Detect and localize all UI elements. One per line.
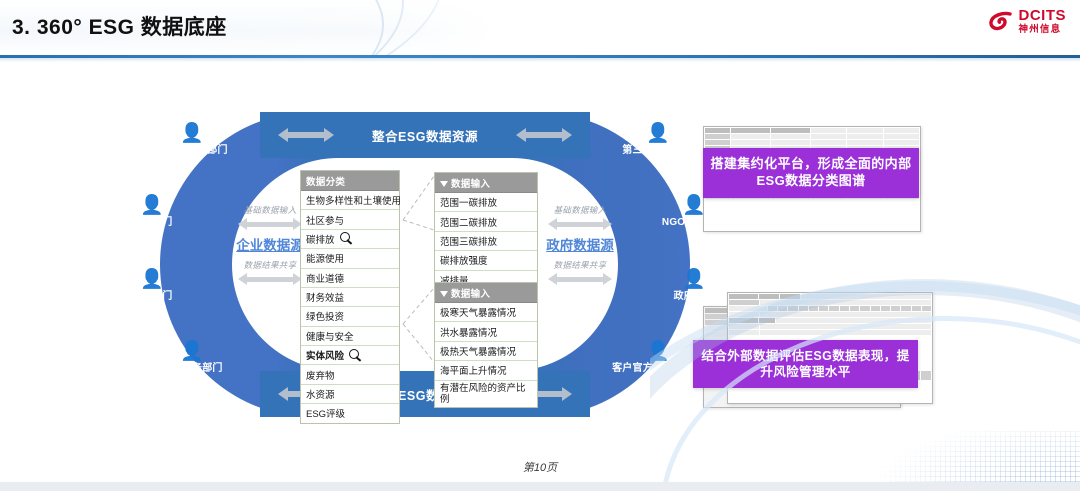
title-divider: [0, 55, 1080, 58]
table-row[interactable]: 绿色投资: [301, 307, 399, 326]
node-label: 可持续发展部门: [144, 145, 240, 157]
cell-text: 水资源: [306, 387, 335, 401]
node-label: 风险部门: [104, 217, 200, 229]
cell-text: 能源使用: [306, 251, 344, 265]
node-public-affairs-dept[interactable]: 👤 公共事务部门: [144, 342, 240, 375]
logo-text-en: DCITS: [1019, 8, 1067, 23]
government-data-source-label[interactable]: 政府数据源: [526, 234, 634, 254]
person-badge-icon: 👤: [144, 342, 240, 361]
table-row[interactable]: 范围二碳排放: [435, 212, 537, 231]
person-icon: 👤: [610, 124, 706, 143]
cell-text: 洪水暴露情况: [440, 325, 497, 339]
table-row[interactable]: 能源使用: [301, 249, 399, 268]
node-label: 客户官方信息披露及估测: [610, 363, 706, 386]
person-badge-icon: 👤: [104, 196, 200, 215]
table-row[interactable]: 碳排放: [301, 230, 399, 249]
table-row[interactable]: 健康与安全: [301, 327, 399, 346]
caption-result-sharing: 数据结果共享: [526, 259, 634, 271]
table-row[interactable]: 社区参与: [301, 210, 399, 229]
cell-text: 生物多样性和土壤使用: [306, 193, 401, 207]
person-badge-icon: 👤: [144, 124, 240, 143]
node-client-disclosure[interactable]: 👤 客户官方信息披露及估测: [610, 342, 706, 386]
callout-card-1: 搭建集约化平台，形成全面的内部ESG数据分类图谱: [703, 126, 919, 230]
cell-text: ESG评级: [306, 406, 345, 420]
cell-text: 海平面上升情况: [440, 363, 507, 377]
cell-text: 碳排放: [306, 232, 335, 246]
table-header-label: 数据输入: [451, 179, 490, 190]
table-data-classification: 数据分类 生物多样性和土壤使用 社区参与 碳排放 能源使用 商业道德 财务效益 …: [300, 170, 400, 424]
cell-text: 范围一碳排放: [440, 195, 497, 209]
table-header: 数据输入: [435, 283, 537, 303]
callout-card-2: 结合外部数据评估ESG数据表现，提升风险管理水平: [703, 292, 931, 414]
table-row[interactable]: 极寒天气暴露情况: [435, 303, 537, 322]
table-header-label: 数据输入: [451, 289, 490, 300]
cell-text: 废弃物: [306, 368, 335, 382]
node-label: 第三方评级机构: [610, 145, 706, 157]
node-third-party-rating[interactable]: 👤 第三方评级机构: [610, 124, 706, 157]
cell-text: 范围二碳排放: [440, 215, 497, 229]
node-sustainability-dept[interactable]: 👤 可持续发展部门: [144, 124, 240, 157]
caption-basic-input: 基础数据输入: [526, 204, 634, 216]
footer-bar: [0, 482, 1080, 491]
logo-text-cn: 神州信息: [1019, 25, 1067, 35]
caret-down-icon: [440, 291, 448, 297]
page-title: 3. 360° ESG 数据底座: [12, 11, 227, 41]
brand-logo: DCITS 神州信息: [988, 8, 1067, 35]
node-risk-dept[interactable]: 👤 风险部门: [104, 196, 200, 229]
cell-text: 有潜在风险的资产比例: [440, 383, 532, 405]
double-arrow-icon: [548, 218, 612, 230]
esg-ring-diagram: 整合ESG数据资源 形成ESG数据生态 👤 可持续发展部门 👤 风险部门 👤 投…: [160, 112, 690, 417]
cell-text: 绿色投资: [306, 309, 344, 323]
person-icon: 👤: [610, 342, 706, 361]
node-label: 公共事务部门: [144, 363, 240, 375]
cell-text: 极热天气暴露情况: [440, 344, 516, 358]
table-row[interactable]: 极热天气暴露情况: [435, 342, 537, 361]
magnifier-icon[interactable]: [340, 232, 353, 245]
double-arrow-icon: [516, 128, 572, 142]
table-row[interactable]: 范围一碳排放: [435, 193, 537, 212]
table-row[interactable]: 海平面上升情况: [435, 361, 537, 380]
callout-banner-2[interactable]: 结合外部数据评估ESG数据表现，提升风险管理水平: [693, 340, 918, 388]
table-row[interactable]: 碳排放强度: [435, 251, 537, 270]
table-row[interactable]: ESG评级: [301, 404, 399, 422]
table-row[interactable]: 实体风险: [301, 346, 399, 365]
table-body: 生物多样性和土壤使用 社区参与 碳排放 能源使用 商业道德 财务效益 绿色投资 …: [301, 191, 399, 423]
caret-down-icon: [440, 181, 448, 187]
table-row[interactable]: 财务效益: [301, 288, 399, 307]
table-row[interactable]: 有潜在风险的资产比例: [435, 381, 537, 408]
cell-text: 范围三碳排放: [440, 234, 497, 248]
dcits-swirl-icon: [988, 8, 1014, 34]
cell-text: 商业道德: [306, 271, 344, 285]
callout-banner-1[interactable]: 搭建集约化平台，形成全面的内部ESG数据分类图谱: [703, 148, 919, 198]
cell-text: 极寒天气暴露情况: [440, 305, 516, 319]
table-row[interactable]: 洪水暴露情况: [435, 322, 537, 341]
table-data-input-carbon: 数据输入 范围一碳排放 范围二碳排放 范围三碳排放 碳排放强度 减排量: [434, 172, 538, 290]
top-banner-label: 整合ESG数据资源: [372, 126, 478, 145]
table-row[interactable]: 水资源: [301, 385, 399, 404]
table-row[interactable]: 废弃物: [301, 365, 399, 384]
magnifier-icon[interactable]: [349, 349, 362, 362]
page-number: 第10页: [0, 459, 1080, 475]
table-body: 范围一碳排放 范围二碳排放 范围三碳排放 碳排放强度 减排量: [435, 193, 537, 289]
table-header: 数据输入: [435, 173, 537, 193]
cell-text: 财务效益: [306, 290, 344, 304]
table-data-input-physical: 数据输入 极寒天气暴露情况 洪水暴露情况 极热天气暴露情况 海平面上升情况 有潜…: [434, 282, 538, 408]
double-arrow-icon: [278, 128, 334, 142]
node-investment-dept[interactable]: 👤 投资部门: [104, 270, 200, 303]
government-source-group: 基础数据输入 政府数据源 数据结果共享: [526, 204, 634, 289]
double-arrow-icon: [238, 218, 302, 230]
top-banner: 整合ESG数据资源: [260, 112, 590, 158]
table-header: 数据分类: [301, 171, 399, 191]
slide-canvas: 3. 360° ESG 数据底座 DCITS 神州信息 整合ESG数据资源 形成…: [0, 0, 1080, 491]
cell-text: 碳排放强度: [440, 253, 488, 267]
double-arrow-icon: [548, 273, 612, 285]
double-arrow-icon: [238, 273, 302, 285]
person-icon: 👤: [646, 270, 742, 289]
person-badge-icon: 👤: [104, 270, 200, 289]
table-row[interactable]: 生物多样性和土壤使用: [301, 191, 399, 210]
cell-text: 社区参与: [306, 213, 344, 227]
cell-text: 健康与安全: [306, 329, 354, 343]
cell-text: 实体风险: [306, 348, 344, 362]
table-row[interactable]: 范围三碳排放: [435, 232, 537, 251]
table-row[interactable]: 商业道德: [301, 269, 399, 288]
node-label: 投资部门: [104, 291, 200, 303]
table-body: 极寒天气暴露情况 洪水暴露情况 极热天气暴露情况 海平面上升情况 有潜在风险的资…: [435, 303, 537, 407]
